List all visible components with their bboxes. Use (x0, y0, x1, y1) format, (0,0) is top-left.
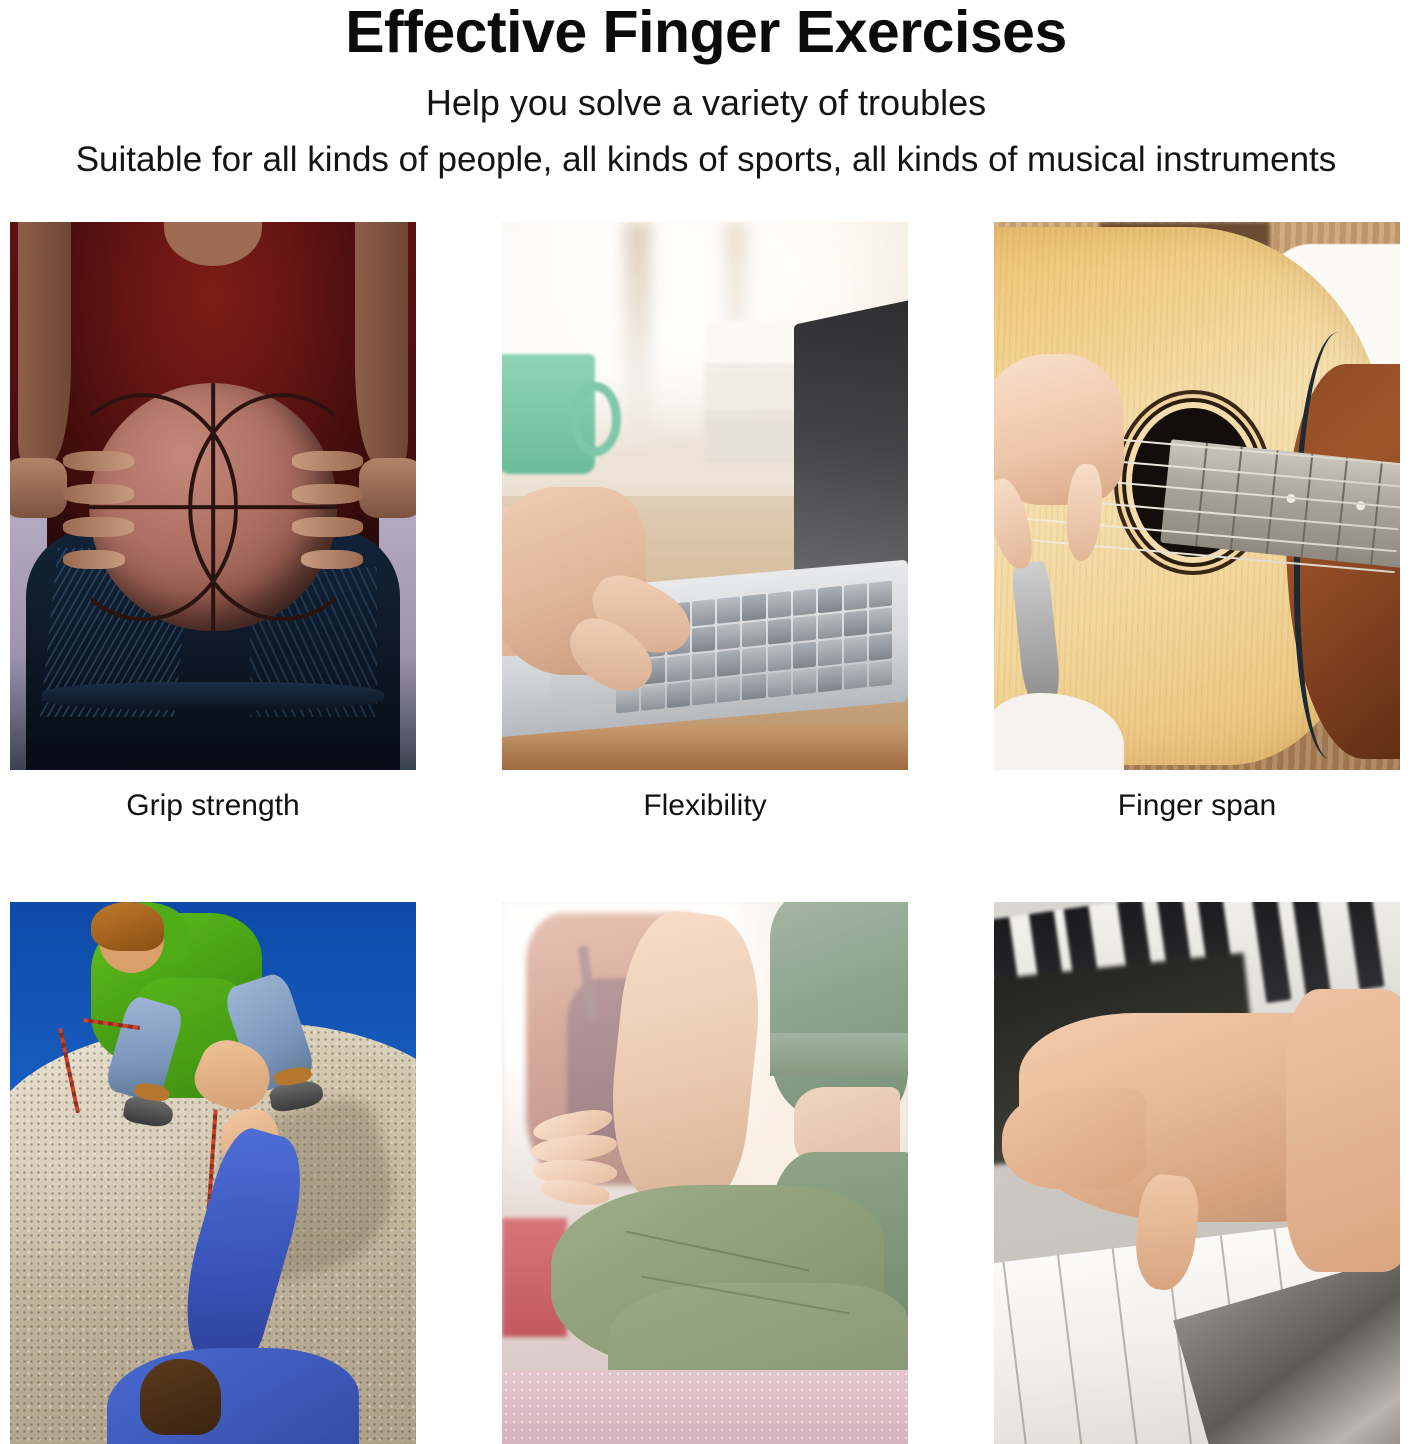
finger (292, 484, 363, 504)
benefit-card-grip-strength: Grip strength (10, 222, 416, 824)
key (767, 644, 790, 671)
benefit-card-coordination: Coordination (502, 902, 908, 1444)
benefit-card-flexibility: Flexibility (502, 222, 908, 824)
lower-climber-head (140, 1359, 221, 1435)
finger (292, 517, 363, 537)
key (843, 583, 866, 610)
sports-bra-band (770, 1033, 908, 1077)
key (868, 633, 891, 660)
benefits-grid: Grip strength (10, 222, 1402, 1444)
wrist-shape (1286, 989, 1400, 1272)
key (868, 660, 891, 687)
sports-bra-shape (770, 902, 908, 1114)
right-hand-shape (290, 441, 383, 605)
key (793, 615, 816, 642)
benefit-card-finger-span: Finger span (994, 222, 1400, 824)
laptop-typing-photo (502, 222, 908, 770)
subtitle-primary: Help you solve a variety of troubles (0, 82, 1412, 123)
finger (301, 550, 363, 570)
header: Effective Finger Exercises Help you solv… (0, 0, 1412, 181)
black-key (1342, 902, 1384, 991)
benefit-card-endurance: Endurance (10, 902, 416, 1444)
pink-yoga-mat (502, 1370, 908, 1444)
key (793, 588, 816, 615)
key (767, 617, 790, 644)
finger (292, 451, 363, 471)
thumb-ridge-shape (1002, 1088, 1146, 1189)
key (843, 662, 866, 689)
waistband-shape (42, 682, 383, 709)
mudra-hand (526, 1109, 640, 1207)
benefit-caption: Grip strength (10, 788, 416, 824)
key (742, 593, 765, 620)
finger (63, 517, 134, 537)
finger (63, 451, 134, 471)
key (818, 665, 841, 692)
key (767, 670, 790, 697)
benefit-card-intensity: Intensity (994, 902, 1400, 1444)
subtitle-secondary: Suitable for all kinds of people, all ki… (0, 140, 1412, 180)
benefit-caption: Finger span (994, 788, 1400, 824)
green-coffee-mug (502, 354, 595, 475)
infographic-page: Effective Finger Exercises Help you solv… (0, 0, 1412, 1444)
key (793, 641, 816, 668)
rock-climbing-photo (10, 902, 416, 1444)
key (767, 591, 790, 618)
black-key (1289, 902, 1331, 998)
finger (63, 550, 125, 570)
key (868, 607, 891, 634)
basketball-photo (10, 222, 416, 770)
finger (63, 484, 134, 504)
guitar-playing-photo (994, 222, 1400, 770)
key (818, 639, 841, 666)
benefit-caption: Flexibility (502, 788, 908, 824)
key (843, 609, 866, 636)
desk-front-edge (502, 726, 908, 770)
typing-hand (502, 463, 721, 704)
left-hand-shape (42, 441, 135, 605)
key (793, 668, 816, 695)
yoga-meditation-photo (502, 902, 908, 1444)
background-blur-stripe (624, 222, 652, 441)
piano-playing-photo (994, 902, 1400, 1444)
key (868, 580, 891, 607)
black-key (1249, 902, 1291, 1004)
curly-hair-shape (91, 902, 164, 951)
left-arm-shape (18, 222, 71, 463)
strumming-hand (994, 354, 1156, 584)
key (742, 673, 765, 700)
key (818, 612, 841, 639)
key (818, 585, 841, 612)
key (742, 620, 765, 647)
page-title: Effective Finger Exercises (0, 2, 1412, 64)
palm-shape (994, 354, 1124, 506)
right-arm-shape (355, 222, 408, 463)
key (843, 636, 866, 663)
key (742, 646, 765, 673)
